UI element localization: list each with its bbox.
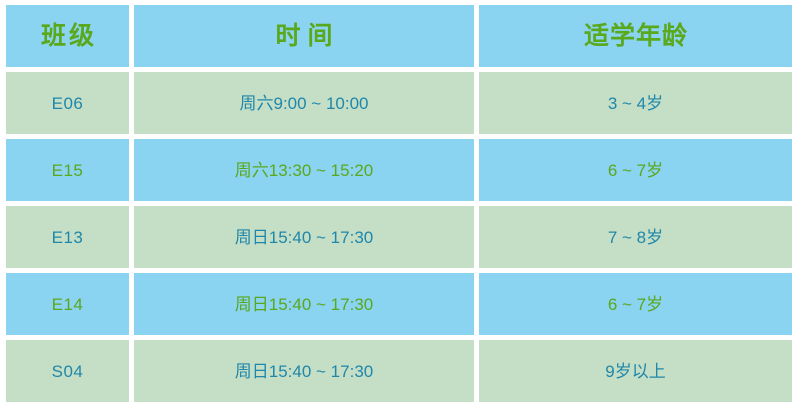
table-row: E15 周六13:30 ~ 15:20 6 ~ 7岁	[6, 139, 792, 201]
cell-age: 7 ~ 8岁	[479, 206, 792, 268]
cell-class-code: E14	[6, 273, 129, 335]
table-row: S04 周日15:40 ~ 17:30 9岁以上	[6, 340, 792, 402]
cell-time: 周六13:30 ~ 15:20	[134, 139, 474, 201]
cell-class-code: E06	[6, 72, 129, 134]
cell-class-code: S04	[6, 340, 129, 402]
cell-time: 周日15:40 ~ 17:30	[134, 206, 474, 268]
cell-age: 9岁以上	[479, 340, 792, 402]
cell-age: 3 ~ 4岁	[479, 72, 792, 134]
cell-time: 周六9:00 ~ 10:00	[134, 72, 474, 134]
cell-class-code: E13	[6, 206, 129, 268]
table-row: E06 周六9:00 ~ 10:00 3 ~ 4岁	[6, 72, 792, 134]
cell-time: 周日15:40 ~ 17:30	[134, 340, 474, 402]
cell-age: 6 ~ 7岁	[479, 139, 792, 201]
table-row: E14 周日15:40 ~ 17:30 6 ~ 7岁	[6, 273, 792, 335]
column-header-class: 班级	[6, 5, 129, 67]
class-schedule-table: 班级 时间 适学年龄 E06 周六9:00 ~ 10:00 3 ~ 4岁 E15…	[6, 5, 792, 402]
table-header-row: 班级 时间 适学年龄	[6, 5, 792, 67]
cell-time: 周日15:40 ~ 17:30	[134, 273, 474, 335]
table-row: E13 周日15:40 ~ 17:30 7 ~ 8岁	[6, 206, 792, 268]
cell-class-code: E15	[6, 139, 129, 201]
column-header-age: 适学年龄	[479, 5, 792, 67]
cell-age: 6 ~ 7岁	[479, 273, 792, 335]
column-header-time: 时间	[134, 5, 474, 67]
